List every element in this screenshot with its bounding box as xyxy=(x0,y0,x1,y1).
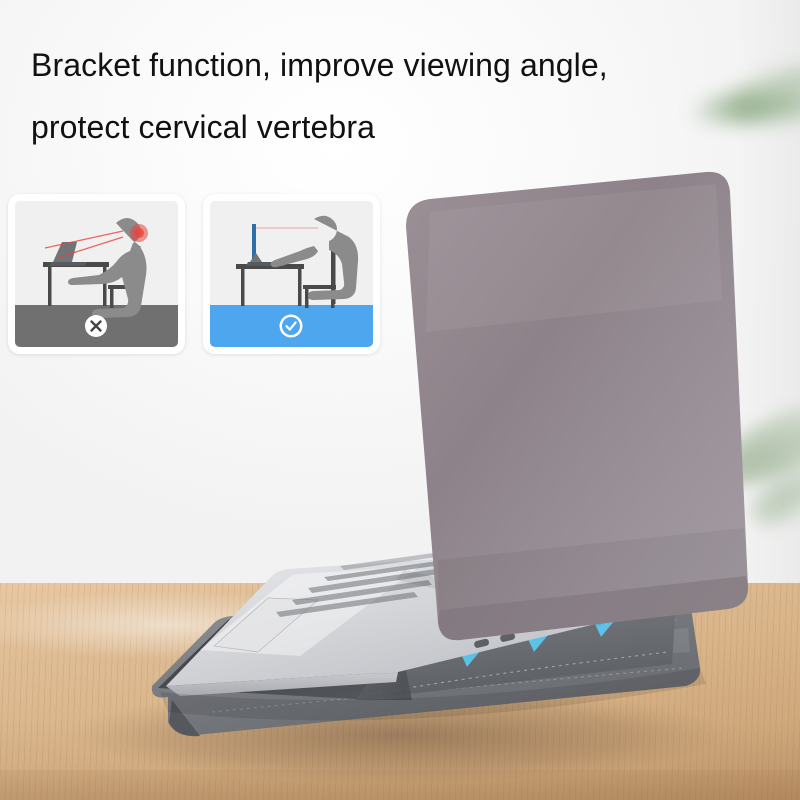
product-image-canvas: Bracket function, improve viewing angle,… xyxy=(0,0,800,800)
product-photo xyxy=(0,0,800,800)
